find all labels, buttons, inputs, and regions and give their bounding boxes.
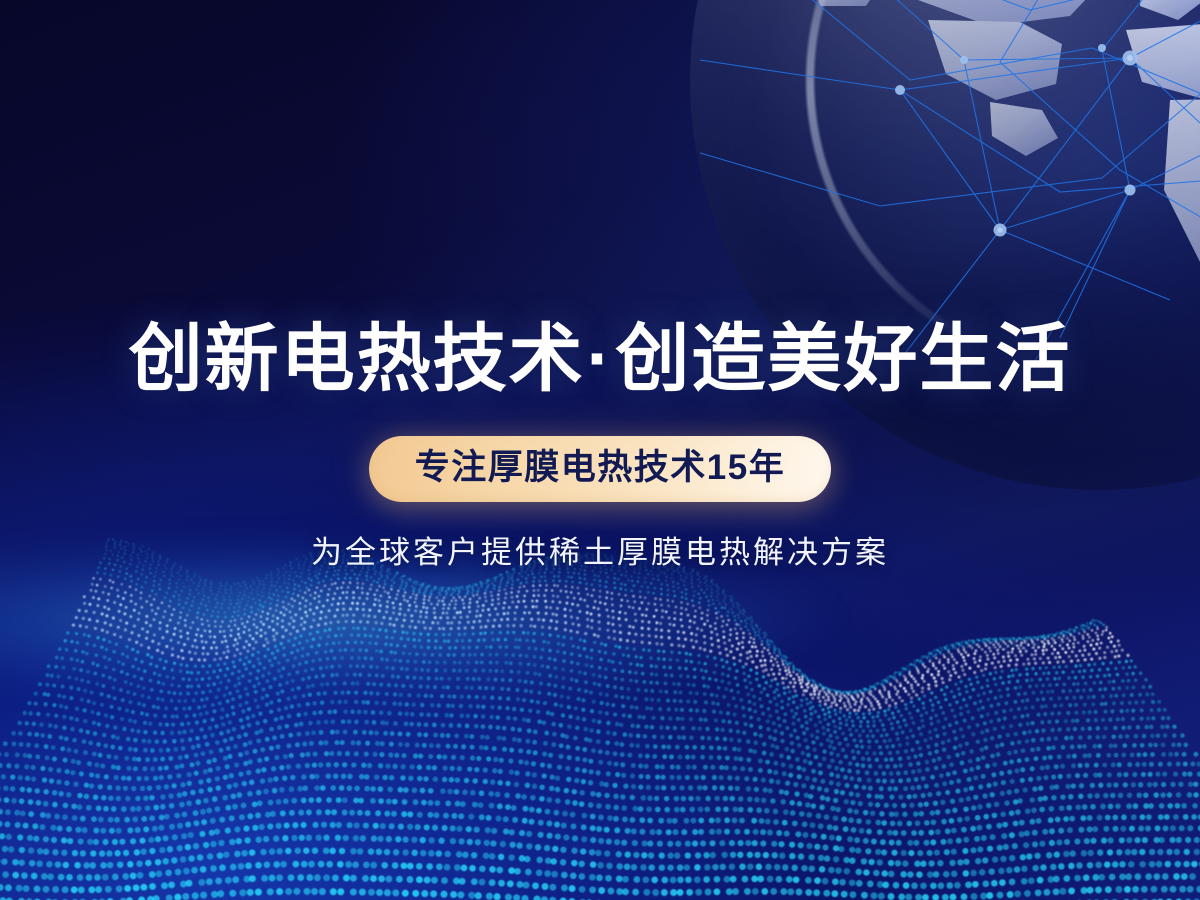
hero-subtitle: 为全球客户提供稀土厚膜电热解决方案 — [0, 536, 1200, 570]
badge-row: 专注厚膜电热技术15年 — [0, 436, 1200, 502]
page-title: 创新电热技术·创造美好生活 — [0, 322, 1200, 396]
headline-separator: · — [585, 317, 616, 400]
experience-badge: 专注厚膜电热技术15年 — [369, 436, 831, 502]
hero-text-block: 创新电热技术·创造美好生活 专注厚膜电热技术15年 为全球客户提供稀土厚膜电热解… — [0, 322, 1200, 570]
headline-part-1: 创新电热技术 — [129, 317, 585, 400]
hero-banner: 创新电热技术·创造美好生活 专注厚膜电热技术15年 为全球客户提供稀土厚膜电热解… — [0, 0, 1200, 900]
headline-part-2: 创造美好生活 — [615, 317, 1071, 400]
